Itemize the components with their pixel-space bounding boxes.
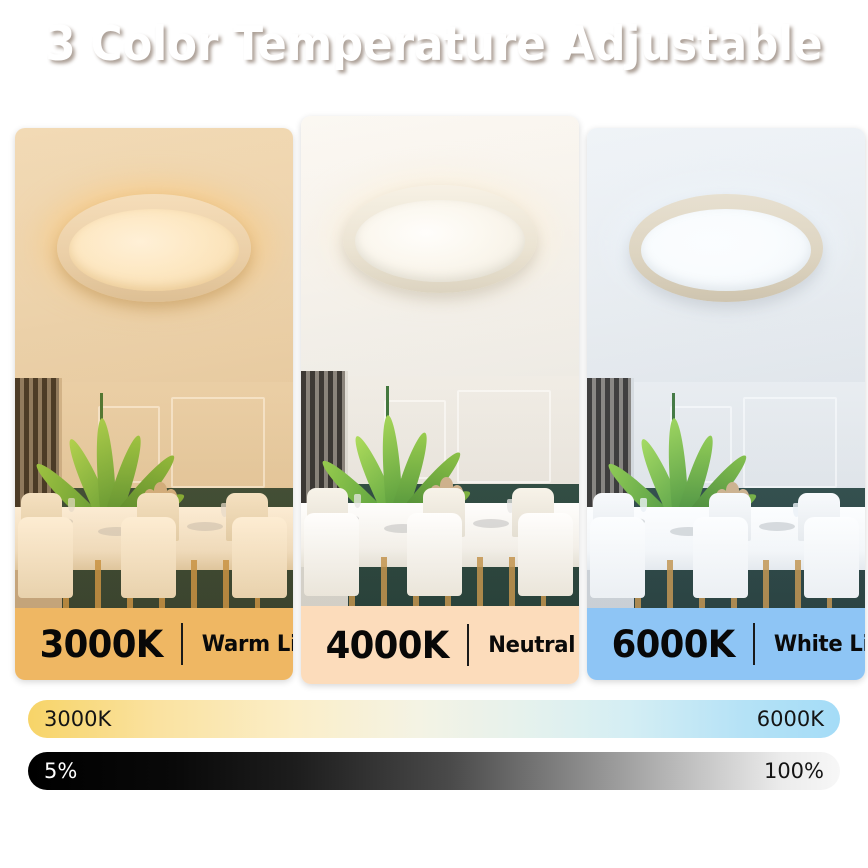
light-name: Warm Light (202, 632, 293, 657)
panel-4000k[interactable]: 4000K Neutral Light (301, 116, 579, 684)
wine-glass (354, 494, 361, 508)
dining-chair (693, 517, 749, 599)
room-photo-warm (15, 128, 293, 608)
dining-chair (232, 517, 288, 599)
kelvin-value: 6000K (612, 623, 735, 666)
wall-moulding (457, 390, 552, 483)
color-temperature-panels: 3000K Warm Light (0, 88, 868, 688)
dining-chair (590, 517, 646, 599)
dining-chair (18, 517, 74, 599)
brightness-range[interactable]: 5% 100% (28, 752, 840, 790)
dining-chair (804, 517, 860, 599)
dining-chair (407, 513, 463, 596)
room-photo-neutral (301, 116, 579, 606)
range-bars: 3000K 6000K 5% 100% (0, 700, 868, 804)
label-divider (467, 624, 469, 666)
panel-3000k[interactable]: 3000K Warm Light (15, 128, 293, 680)
wine-glass (640, 498, 647, 512)
cct-max-label: 6000K (757, 707, 824, 731)
potted-plant (48, 296, 154, 526)
dining-chair (518, 513, 574, 596)
wall-moulding (171, 397, 266, 488)
potted-plant (620, 296, 726, 526)
ceiling-light-icon (629, 194, 823, 302)
color-temperature-range[interactable]: 3000K 6000K (28, 700, 840, 738)
potted-plant (334, 288, 440, 523)
dining-chair (304, 513, 360, 596)
ceiling-light-icon (343, 185, 537, 293)
label-bar-3000k: 3000K Warm Light (15, 608, 293, 680)
wall-moulding (743, 397, 838, 488)
header-banner: 3 Color Temperature Adjustable (0, 0, 868, 88)
label-bar-6000k: 6000K White Light (587, 608, 865, 680)
label-bar-4000k: 4000K Neutral Light (301, 606, 579, 684)
light-name: White Light (774, 632, 865, 657)
light-name: Neutral Light (488, 633, 579, 658)
ceiling-light-icon (57, 194, 251, 302)
label-divider (181, 623, 183, 665)
kelvin-value: 3000K (40, 623, 163, 666)
label-divider (753, 623, 755, 665)
brightness-min-label: 5% (44, 759, 77, 783)
room-photo-white (587, 128, 865, 608)
dining-chair (121, 517, 177, 599)
place-setting (473, 519, 509, 528)
wine-glass (68, 498, 75, 512)
page-title: 3 Color Temperature Adjustable (45, 17, 822, 72)
cct-min-label: 3000K (44, 707, 111, 731)
brightness-max-label: 100% (764, 759, 824, 783)
kelvin-value: 4000K (326, 624, 449, 667)
panel-6000k[interactable]: 6000K White Light (587, 128, 865, 680)
